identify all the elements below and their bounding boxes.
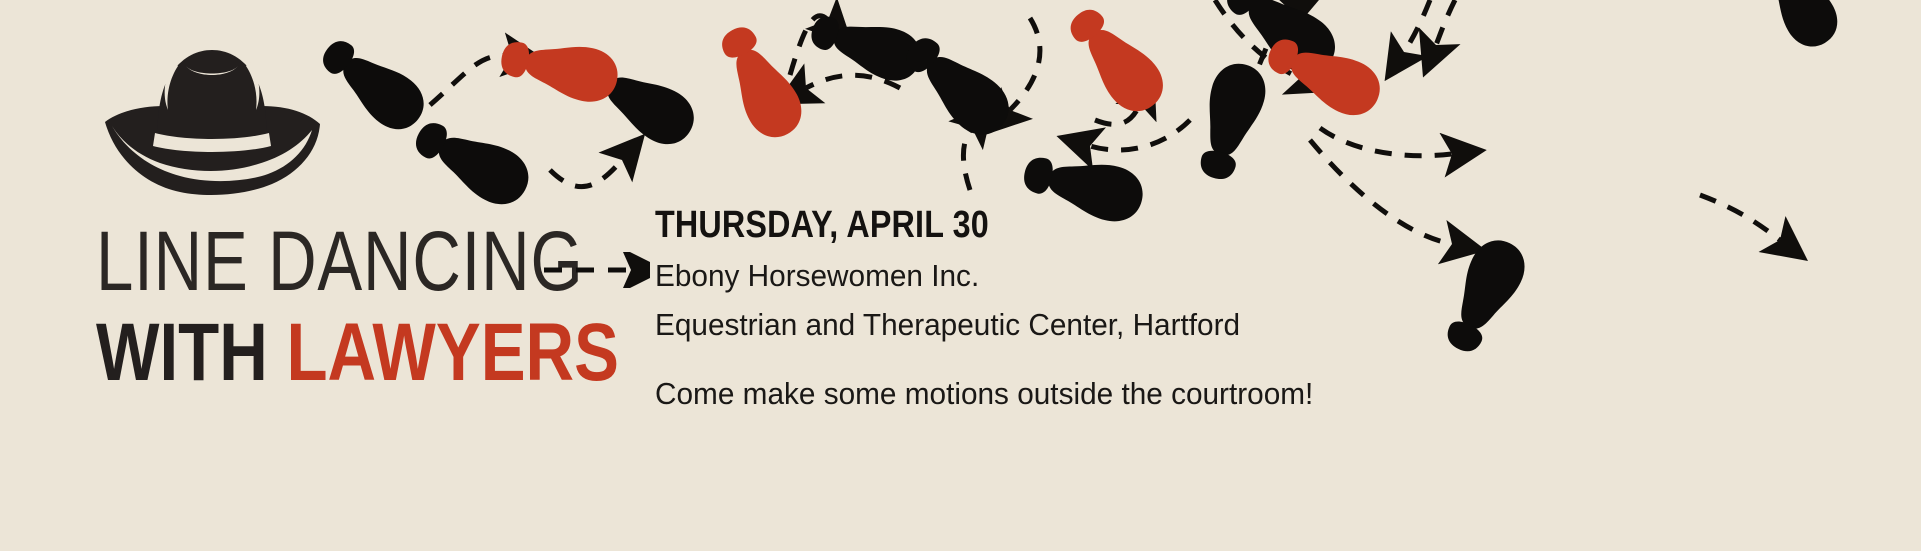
poster-canvas: LINE DANCING WITH LAWYERS THURSDAY, APRI… (0, 0, 1921, 551)
title-line-2-prefix: WITH (96, 307, 286, 398)
event-details: THURSDAY, APRIL 30 Ebony Horsewomen Inc.… (655, 206, 1395, 413)
title-line-2-accent: LAWYERS (286, 307, 618, 398)
event-venue-line-2: Equestrian and Therapeutic Center, Hartf… (655, 305, 1365, 344)
dashed-arrow-icon (540, 252, 650, 288)
event-tagline: Come make some motions outside the court… (655, 374, 1365, 413)
event-date: THURSDAY, APRIL 30 (655, 206, 1284, 246)
title-line-2: WITH LAWYERS (96, 314, 522, 392)
title-line-1: LINE DANCING (96, 222, 512, 302)
event-venue-line-1: Ebony Horsewomen Inc. (655, 256, 1365, 295)
poster-title: LINE DANCING WITH LAWYERS (96, 222, 616, 392)
cowboy-hat-icon (105, 50, 320, 195)
